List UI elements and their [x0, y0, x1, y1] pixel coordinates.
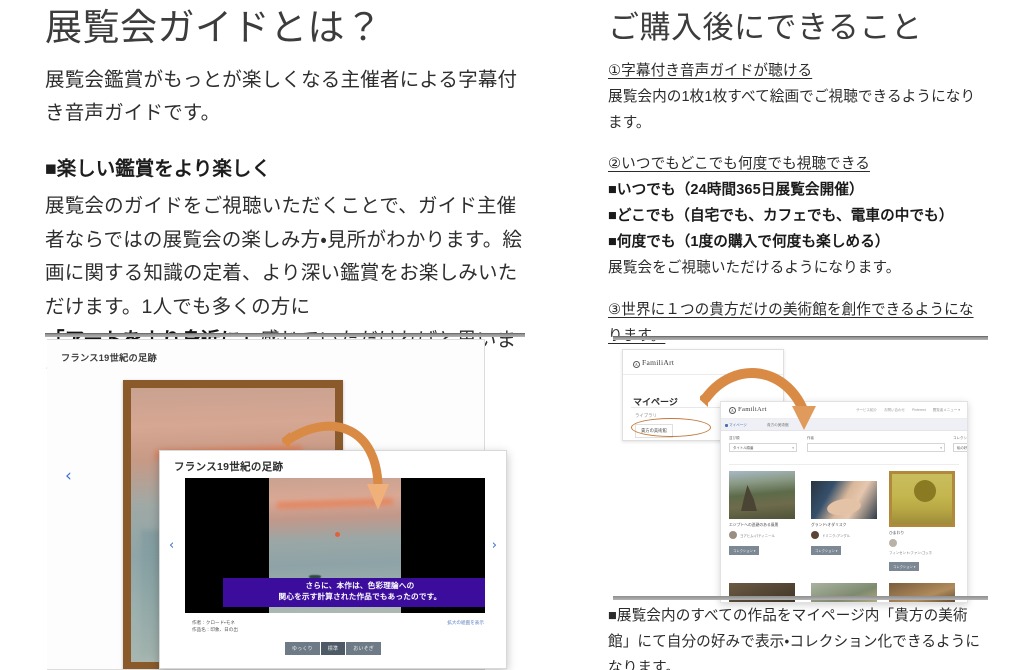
left-section-body-part1: 展覧会のガイドをご視聴いただくことで、ガイド主催者ならではの展覧会の楽しみ方・見…	[45, 195, 522, 318]
left-intro-text: 展覧会鑑賞がもっとが楽しくなる主催者による字幕付き音声ガイドです。	[45, 64, 525, 131]
artwork-title: グランド・オダリスク	[811, 523, 877, 528]
zoom-artwork-link[interactable]: 拡大の絵画を表示	[447, 620, 484, 626]
artwork-thumbnail[interactable]	[889, 471, 955, 527]
page-title-right: ご購入後にできること	[608, 0, 988, 47]
artwork-card[interactable]	[729, 583, 795, 603]
left-section-heading: ■楽しい鑑賞をより楽しく	[45, 153, 525, 187]
benefit-2-line-1: ■いつでも（24時間365日展覧会開催）	[608, 182, 864, 198]
filter-collection: コレクション 私の好きな作品集	[953, 436, 968, 452]
nav-item-services[interactable]: サービス紹介	[856, 408, 877, 413]
artwork-author-row: ヨアヒム・パティニール	[729, 531, 795, 539]
artwork-title: エジプトへの逃避のある風景	[729, 523, 795, 528]
benefit-2-block: ②いつでもどこでも何度でも視聴できる ■いつでも（24時間365日展覧会開催） …	[608, 152, 988, 282]
artwork-author-row	[889, 539, 955, 547]
familiart-logo: AFamiliArt	[633, 358, 674, 367]
right-caption-block: ■展覧会内のすべての作品をマイページ内「貴方の美術館」にて自分の好みで表示・コレ…	[608, 604, 988, 670]
player-title: フランス19世紀の足跡	[174, 459, 283, 474]
artwork-row	[729, 583, 959, 603]
benefit-2-line-4: 展覧会をご視聴いただけるようになります。	[608, 260, 900, 276]
guide-title: フランス19世紀の足跡	[61, 350, 157, 364]
avatar	[889, 539, 897, 547]
brand-text: FamiliArt	[738, 406, 767, 413]
artwork-author: フィンセント・ファン・ゴッホ	[889, 550, 955, 555]
benefit-1-block: ①字幕付き音声ガイドが聴ける 展覧会内の1枚1枚すべて絵画でご視聴できるようにな…	[608, 59, 988, 137]
avatar	[729, 531, 737, 539]
artwork-meta: 作者：クロード・モネ 作品名：印象、日の出	[192, 619, 238, 633]
subtitle-line-2: 関心を示す計算された作品でもあったのです。	[225, 592, 485, 603]
page-root: 展覧会ガイドとは？ 展覧会鑑賞がもっとが楽しくなる主催者による字幕付き音声ガイド…	[0, 0, 1031, 670]
brand-mark-icon: A	[633, 361, 640, 368]
your-museum-gallery-card: AFamiliArt サービス紹介 お問い合わせ Pinterest 閲覧者メニ…	[720, 401, 968, 603]
artwork-row: エジプトへの逃避のある風景 ヨアヒム・パティニール コレクション ▾ グランド・…	[729, 471, 959, 573]
filter-collection-label: コレクション	[953, 436, 968, 441]
audio-guide-player-card: フランス19世紀の足跡 さらに、本作は、色彩理論への 関心を示す計算された作品で…	[159, 450, 507, 669]
brand-mark-icon: A	[729, 407, 736, 414]
meta-author: 作者：クロード・モネ	[192, 619, 238, 626]
artwork-thumbnail[interactable]	[729, 583, 795, 603]
breadcrumb-dot-icon	[725, 424, 728, 427]
left-screenshot-mock: フランス19世紀の足跡 ‹ フランス19	[45, 333, 525, 670]
artwork-card[interactable]: エジプトへの逃避のある風景 ヨアヒム・パティニール コレクション ▾	[729, 471, 795, 573]
artwork-thumbnail[interactable]	[811, 481, 877, 519]
filter-collection-select[interactable]: 私の好きな作品集	[953, 443, 968, 452]
avatar	[811, 531, 819, 539]
filter-sort-select[interactable]: タイトル順番	[729, 443, 797, 452]
artwork-author: ヨアヒム・パティニール	[740, 533, 775, 538]
familiart-logo: AFamiliArt	[729, 406, 767, 413]
page-title-left: 展覧会ガイドとは？	[45, 0, 525, 50]
sun-dot	[335, 532, 340, 537]
divider	[623, 374, 783, 375]
right-column: ご購入後にできること ①字幕付き音声ガイドが聴ける 展覧会内の1枚1枚すべて絵画…	[608, 0, 988, 670]
highlight-oval	[631, 418, 711, 437]
divider	[729, 464, 959, 465]
guide-prev-arrow-icon[interactable]: ‹	[65, 468, 72, 485]
benefit-2-line-2: ■どこでも（自宅でも、カフェでも、電車の中でも）	[608, 208, 954, 224]
collection-button[interactable]: コレクション ▾	[729, 546, 759, 555]
filter-sort-label: 並び順	[729, 436, 797, 441]
artwork-card[interactable]	[889, 583, 955, 603]
filter-sort: 並び順 タイトル順番	[729, 436, 797, 452]
speed-button-fast[interactable]: おいそぎ	[346, 642, 381, 655]
artwork-thumbnail[interactable]	[729, 471, 795, 519]
artwork-thumbnail[interactable]	[889, 583, 955, 603]
screenshot-top-rule	[613, 336, 988, 340]
artwork-card[interactable]: グランド・オダリスク ドミニク・アングル コレクション ▾	[811, 471, 877, 573]
player-next-arrow-icon[interactable]: ›	[492, 539, 497, 552]
artwork-author: ドミニク・アングル	[822, 533, 850, 538]
playback-speed-group: ゆっくり 標準 おいそぎ	[160, 642, 506, 655]
left-column: 展覧会ガイドとは？ 展覧会鑑賞がもっとが楽しくなる主催者による字幕付き音声ガイド…	[45, 0, 525, 670]
filter-author-select[interactable]	[807, 443, 945, 452]
caption-rule	[613, 596, 988, 600]
nav-item-viewer-menu[interactable]: 閲覧者メニュー ▾	[933, 408, 960, 413]
breadcrumb-home[interactable]: マイページ	[729, 423, 747, 428]
speed-button-slow[interactable]: ゆっくり	[285, 642, 320, 655]
meta-work-name: 作品名：印象、日の出	[192, 626, 238, 633]
benefit-2-line-3: ■何度でも（1度の購入で何度も楽しめる）	[608, 234, 890, 250]
benefit-2-title: ②いつでもどこでも何度でも視聴できる	[608, 156, 870, 172]
gallery-navbar: AFamiliArt サービス紹介 お問い合わせ Pinterest 閲覧者メニ…	[721, 402, 967, 419]
benefit-1-title: ①字幕付き音声ガイドが聴ける	[608, 63, 812, 79]
collection-button[interactable]: コレクション ▾	[889, 562, 919, 571]
gallery-nav-items: サービス紹介 お問い合わせ Pinterest 閲覧者メニュー ▾	[856, 408, 960, 413]
brand-text: FamiliArt	[642, 358, 674, 367]
artwork-grid: エジプトへの逃避のある風景 ヨアヒム・パティニール コレクション ▾ グランド・…	[729, 471, 959, 603]
nav-item-pinterest[interactable]: Pinterest	[912, 408, 926, 413]
artwork-thumbnail[interactable]	[811, 583, 877, 603]
collection-button[interactable]: コレクション ▾	[811, 546, 841, 555]
video-area: さらに、本作は、色彩理論への 関心を示す計算された作品でもあったのです。	[185, 478, 485, 613]
breadcrumb-current: 貴方の美術館	[767, 423, 789, 428]
artwork-title: ひまわり	[889, 531, 955, 536]
benefit-1-body: 展覧会内の1枚1枚すべて絵画でご視聴できるようになります。	[608, 89, 975, 131]
nav-item-contact[interactable]: お問い合わせ	[884, 408, 905, 413]
speed-button-normal[interactable]: 標準	[321, 642, 345, 655]
breadcrumb: マイページ 貴方の美術館	[721, 419, 967, 431]
artwork-card[interactable]: ひまわり フィンセント・ファン・ゴッホ コレクション ▾	[889, 471, 955, 573]
artwork-author-row: ドミニク・アングル	[811, 531, 877, 539]
filter-author: 作者	[807, 436, 945, 452]
right-caption-text: ■展覧会内のすべての作品をマイページ内「貴方の美術館」にて自分の好みで表示・コレ…	[608, 604, 988, 670]
filter-bar: 並び順 タイトル順番 作者 コレクション 私の好きな作品集	[729, 436, 959, 460]
subtitle-line-1: さらに、本作は、色彩理論への	[225, 581, 485, 592]
filter-author-label: 作者	[807, 436, 945, 441]
subtitle-overlay: さらに、本作は、色彩理論への 関心を示す計算された作品でもあったのです。	[223, 578, 485, 607]
screenshot-top-rule	[45, 333, 525, 337]
artwork-card[interactable]	[811, 583, 877, 603]
player-prev-arrow-icon[interactable]: ‹	[169, 539, 174, 552]
right-screenshot-mock: AFamiliArt マイページ ライブラリ 貴方の美術館 欲しいもの AF	[608, 336, 988, 606]
